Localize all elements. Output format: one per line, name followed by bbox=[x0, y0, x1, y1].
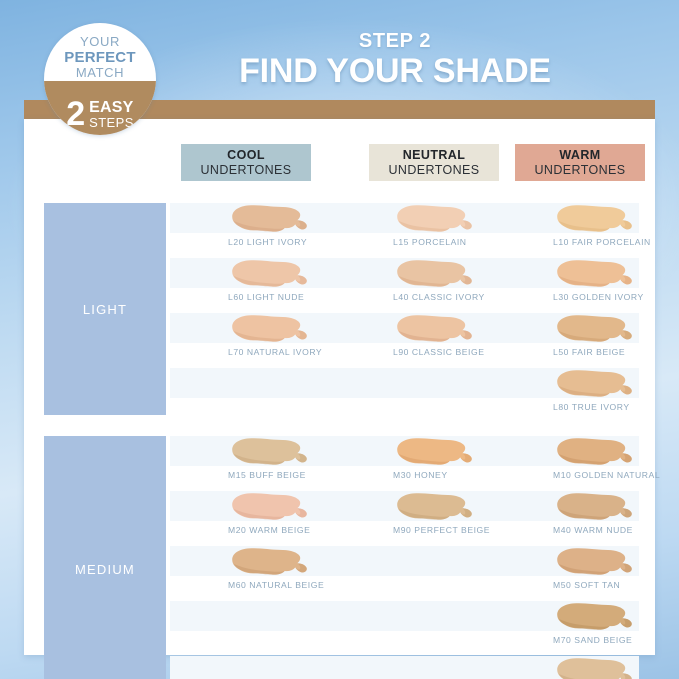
shade-name-label: M90 PERFECT BEIGE bbox=[393, 525, 490, 535]
page-title: FIND YOUR SHADE bbox=[160, 52, 630, 91]
perfect-match-badge: YOUR PERFECT MATCH 2 EASY STEPS bbox=[44, 23, 156, 135]
shade-cell[interactable]: M90 PERFECT BEIGE bbox=[379, 491, 534, 546]
shade-name-label: M70 SAND BEIGE bbox=[553, 635, 632, 645]
foundation-swatch-icon bbox=[553, 204, 637, 235]
swatch-box bbox=[379, 436, 534, 469]
shade-name-label: L60 LIGHT NUDE bbox=[228, 292, 304, 302]
column-header-neutral: NEUTRAL UNDERTONES bbox=[369, 144, 499, 181]
shade-finder-card: COOL UNDERTONES NEUTRAL UNDERTONES WARM … bbox=[24, 119, 655, 655]
foundation-swatch-icon bbox=[393, 492, 477, 523]
shade-name-label: L30 GOLDEN IVORY bbox=[553, 292, 644, 302]
shade-name-label: M15 BUFF BEIGE bbox=[228, 470, 306, 480]
shade-cell[interactable]: L50 FAIR BEIGE bbox=[539, 313, 679, 368]
shade-name-label: M30 HONEY bbox=[393, 470, 448, 480]
shade-grid: LIGHTL20 LIGHT IVORYL15 PORCELAINL10 FAI… bbox=[24, 203, 655, 679]
shade-name-label: L15 PORCELAIN bbox=[393, 237, 467, 247]
shade-cell[interactable]: M40 WARM NUDE bbox=[539, 491, 679, 546]
swatch-box bbox=[539, 491, 679, 524]
shade-row: M60 NATURAL BEIGEM50 SOFT TAN bbox=[24, 546, 655, 601]
badge-steps-text: 2 EASY STEPS bbox=[44, 100, 156, 129]
foundation-swatch-icon bbox=[228, 314, 312, 345]
shade-row: L20 LIGHT IVORYL15 PORCELAINL10 FAIR POR… bbox=[24, 203, 655, 258]
foundation-swatch-icon bbox=[393, 204, 477, 235]
swatch-box bbox=[214, 203, 369, 236]
foundation-swatch-icon bbox=[553, 314, 637, 345]
foundation-swatch-icon bbox=[228, 492, 312, 523]
swatch-box bbox=[379, 313, 534, 346]
shade-name-label: M20 WARM BEIGE bbox=[228, 525, 310, 535]
foundation-swatch-icon bbox=[553, 657, 637, 679]
foundation-swatch-icon bbox=[553, 492, 637, 523]
column-header-cool: COOL UNDERTONES bbox=[181, 144, 311, 181]
swatch-box bbox=[539, 368, 679, 401]
shade-cell[interactable]: L10 FAIR PORCELAIN bbox=[539, 203, 679, 258]
badge-steps-label: STEPS bbox=[89, 116, 134, 129]
shade-cell[interactable]: M20 WARM BEIGE bbox=[214, 491, 369, 546]
column-header-warm-title: WARM bbox=[559, 148, 600, 162]
swatch-box bbox=[539, 258, 679, 291]
shade-row: M15 BUFF BEIGEM30 HONEYM10 GOLDEN NATURA… bbox=[24, 436, 655, 491]
foundation-swatch-icon bbox=[553, 437, 637, 468]
shade-name-label: L70 NATURAL IVORY bbox=[228, 347, 322, 357]
shade-name-label: L50 FAIR BEIGE bbox=[553, 347, 625, 357]
shade-cell[interactable]: M60 NATURAL BEIGE bbox=[214, 546, 369, 601]
tier-rows: M15 BUFF BEIGEM30 HONEYM10 GOLDEN NATURA… bbox=[24, 436, 655, 679]
swatch-box bbox=[214, 436, 369, 469]
badge-line-3: MATCH bbox=[44, 66, 156, 81]
shade-name-label: M10 GOLDEN NATURAL bbox=[553, 470, 660, 480]
swatch-box bbox=[539, 656, 679, 679]
shade-row: M80 CARAMEL BEIGE bbox=[24, 656, 655, 679]
column-header-neutral-title: NEUTRAL bbox=[403, 148, 466, 162]
badge-line-2: PERFECT bbox=[44, 50, 156, 67]
foundation-swatch-icon bbox=[553, 602, 637, 633]
foundation-swatch-icon bbox=[553, 259, 637, 290]
swatch-box bbox=[539, 546, 679, 579]
column-header-cool-subtitle: UNDERTONES bbox=[200, 163, 291, 177]
foundation-swatch-icon bbox=[393, 314, 477, 345]
shade-name-label: L90 CLASSIC BEIGE bbox=[393, 347, 485, 357]
swatch-box bbox=[539, 601, 679, 634]
badge-step-number: 2 bbox=[66, 101, 85, 129]
shade-cell[interactable]: M80 CARAMEL BEIGE bbox=[539, 656, 679, 679]
tier-section-medium: MEDIUMM15 BUFF BEIGEM30 HONEYM10 GOLDEN … bbox=[24, 436, 655, 679]
foundation-swatch-icon bbox=[228, 259, 312, 290]
swatch-box bbox=[214, 258, 369, 291]
swatch-box bbox=[379, 203, 534, 236]
badge-top-text: YOUR PERFECT MATCH bbox=[44, 35, 156, 81]
swatch-box bbox=[214, 546, 369, 579]
shade-cell[interactable]: M50 SOFT TAN bbox=[539, 546, 679, 601]
swatch-box bbox=[539, 203, 679, 236]
shade-name-label: L20 LIGHT IVORY bbox=[228, 237, 307, 247]
tier-rows: L20 LIGHT IVORYL15 PORCELAINL10 FAIR POR… bbox=[24, 203, 655, 423]
shade-cell[interactable]: M10 GOLDEN NATURAL bbox=[539, 436, 679, 491]
foundation-swatch-icon bbox=[393, 437, 477, 468]
swatch-box bbox=[379, 491, 534, 524]
shade-cell[interactable]: L40 CLASSIC IVORY bbox=[379, 258, 534, 313]
swatch-box bbox=[539, 313, 679, 346]
shade-row: L80 TRUE IVORY bbox=[24, 368, 655, 423]
shade-cell[interactable]: L80 TRUE IVORY bbox=[539, 368, 679, 423]
tier-section-light: LIGHTL20 LIGHT IVORYL15 PORCELAINL10 FAI… bbox=[24, 203, 655, 423]
badge-line-1: YOUR bbox=[44, 35, 156, 50]
shade-name-label: M40 WARM NUDE bbox=[553, 525, 633, 535]
column-header-warm: WARM UNDERTONES bbox=[515, 144, 645, 181]
shade-cell[interactable]: L60 LIGHT NUDE bbox=[214, 258, 369, 313]
badge-steps-words: EASY STEPS bbox=[89, 100, 134, 129]
swatch-box bbox=[214, 313, 369, 346]
swatch-box bbox=[539, 436, 679, 469]
shade-row: M70 SAND BEIGE bbox=[24, 601, 655, 656]
shade-cell[interactable]: L20 LIGHT IVORY bbox=[214, 203, 369, 258]
shade-row: L60 LIGHT NUDEL40 CLASSIC IVORYL30 GOLDE… bbox=[24, 258, 655, 313]
shade-name-label: M50 SOFT TAN bbox=[553, 580, 620, 590]
shade-name-label: M60 NATURAL BEIGE bbox=[228, 580, 324, 590]
shade-name-label: L40 CLASSIC IVORY bbox=[393, 292, 485, 302]
column-header-cool-title: COOL bbox=[227, 148, 265, 162]
foundation-swatch-icon bbox=[228, 204, 312, 235]
foundation-swatch-icon bbox=[228, 437, 312, 468]
shade-cell[interactable]: M70 SAND BEIGE bbox=[539, 601, 679, 656]
foundation-swatch-icon bbox=[553, 369, 637, 400]
column-header-warm-subtitle: UNDERTONES bbox=[534, 163, 625, 177]
shade-cell[interactable]: L15 PORCELAIN bbox=[379, 203, 534, 258]
shade-row: L70 NATURAL IVORYL90 CLASSIC BEIGEL50 FA… bbox=[24, 313, 655, 368]
shade-cell[interactable]: L70 NATURAL IVORY bbox=[214, 313, 369, 368]
badge-easy-label: EASY bbox=[89, 100, 134, 116]
foundation-swatch-icon bbox=[553, 547, 637, 578]
foundation-swatch-icon bbox=[393, 259, 477, 290]
shade-name-label: L80 TRUE IVORY bbox=[553, 402, 630, 412]
shade-cell[interactable]: L30 GOLDEN IVORY bbox=[539, 258, 679, 313]
column-header-neutral-subtitle: UNDERTONES bbox=[388, 163, 479, 177]
swatch-box bbox=[379, 258, 534, 291]
step-label: STEP 2 bbox=[180, 30, 610, 53]
shade-cell[interactable]: M15 BUFF BEIGE bbox=[214, 436, 369, 491]
shade-cell[interactable]: M30 HONEY bbox=[379, 436, 534, 491]
foundation-swatch-icon bbox=[228, 547, 312, 578]
shade-cell[interactable]: L90 CLASSIC BEIGE bbox=[379, 313, 534, 368]
shade-row: M20 WARM BEIGEM90 PERFECT BEIGEM40 WARM … bbox=[24, 491, 655, 546]
swatch-box bbox=[214, 491, 369, 524]
shade-name-label: L10 FAIR PORCELAIN bbox=[553, 237, 651, 247]
